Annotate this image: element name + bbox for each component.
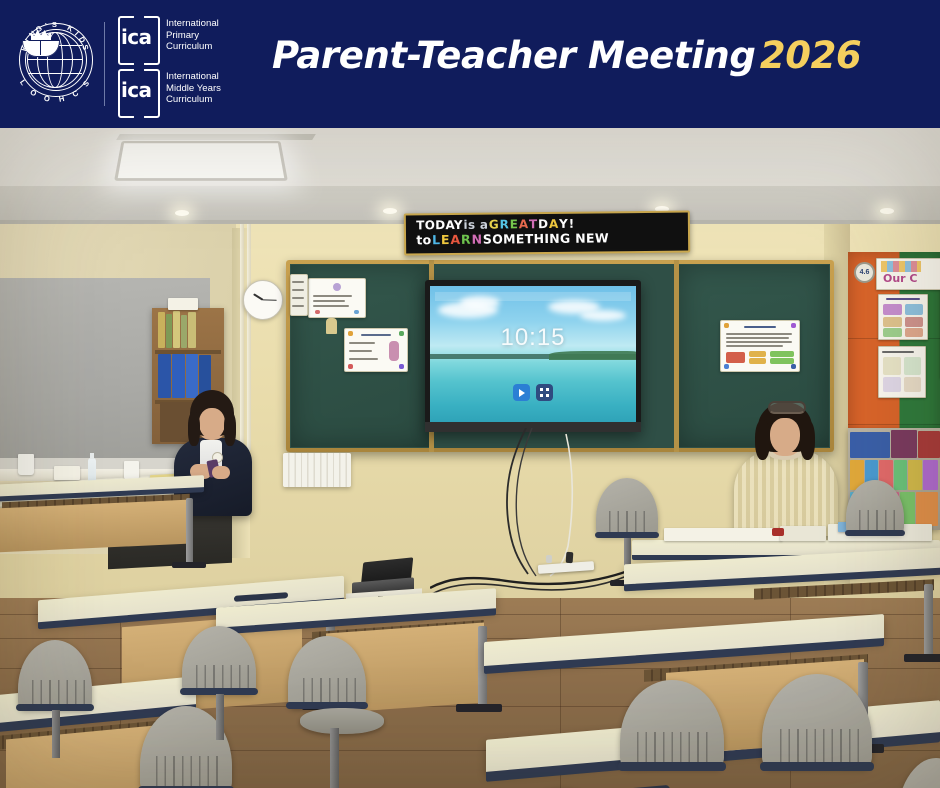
logo-zone: KING'S KIDS SCHOOL ica International Pri… [0,0,250,128]
banner-line-2: to LEARN SOMETHING NEW [416,230,678,248]
shelf-top-items [168,298,198,310]
accreditation-logos: ica International Primary Curriculum ica… [118,16,246,116]
bulletin-badge: 4.6 [854,262,875,283]
info-poster-right [720,320,800,372]
pen-holder [54,466,80,480]
radiator [283,453,351,487]
schedule-poster [878,346,926,398]
our-class-poster: Our C [876,258,940,290]
title-year-text: 2026 [760,34,861,77]
classroom-motto-banner: TODAY is a GREAT DAY! to LEARN SOMETHING… [404,211,690,256]
learning-poster-left [344,328,408,372]
ipc-line-1: International [166,18,219,30]
teacher-left-face [199,408,225,439]
imyc-logo-text: International Middle Years Curriculum [166,71,221,106]
plug-icon [566,552,574,563]
red-pen [772,528,784,536]
smartboard-app-icons[interactable] [513,384,553,401]
our-class-poster-text: Our C [883,272,918,285]
imyc-line-1: International [166,71,221,83]
teacher-right-sweater [734,450,838,536]
wall-clock [243,280,283,320]
classroom-rules-poster [878,294,928,340]
side-notes-strip [290,274,308,316]
ceiling-light-rail [116,134,316,140]
smartboard[interactable]: 10:15 [425,280,641,432]
imyc-logo: ica International Middle Years Curriculu… [118,69,246,116]
event-poster: KING'S KIDS SCHOOL ica International Pri… [0,0,940,788]
downlight-icon-4 [880,208,894,214]
teacher-left-hand-2 [212,466,230,479]
ipc-logo: ica International Primary Curriculum [118,16,246,63]
ipc-logo-text: International Primary Curriculum [166,18,219,53]
teacher-left-hair-side [188,412,200,446]
wall-cables [470,428,610,578]
teacher-right-hair-side [755,420,770,460]
smartboard-clock: 10:15 [430,324,636,352]
kings-kids-school-logo-icon: KING'S KIDS SCHOOL [14,14,96,114]
teacher-right-person [732,394,842,534]
downlight-icon [175,210,189,216]
papers-stack [780,526,826,541]
ica-bracket-icon: ica [118,16,158,61]
imyc-line-3: Curriculum [166,94,221,106]
certificate-poster-left [308,278,366,318]
ica-bracket-icon-2: ica [118,69,158,114]
imyc-line-2: Middle Years [166,83,221,95]
teacher-right-hair-side-2 [800,420,815,460]
plug-icon-2 [546,555,552,563]
poster-title: Parent-Teacher Meeting 2026 [272,34,922,94]
ipc-line-3: Curriculum [166,41,219,53]
open-notebook [664,528,782,541]
media-player-icon[interactable] [513,384,530,401]
teacher-left-hair-side-2 [224,412,236,446]
title-main-text: Parent-Teacher Meeting [272,34,755,77]
classroom-photo: TODAY is a GREAT DAY! to LEARN SOMETHING… [0,128,940,788]
ceiling-led-panel-light [114,141,288,181]
eyeglasses-icon [768,401,806,414]
logo-divider [104,22,105,106]
poster-header: KING'S KIDS SCHOOL ica International Pri… [0,0,940,128]
cup [124,461,139,480]
cup-2 [18,454,34,475]
smartboard-screen[interactable]: 10:15 [430,286,636,422]
teacher-right-face [770,418,800,454]
ipc-line-2: Primary [166,30,219,42]
app-grid-icon[interactable] [536,384,553,401]
downlight-icon-2 [383,208,397,214]
island-land [549,351,636,360]
trophy-icon [326,318,337,334]
